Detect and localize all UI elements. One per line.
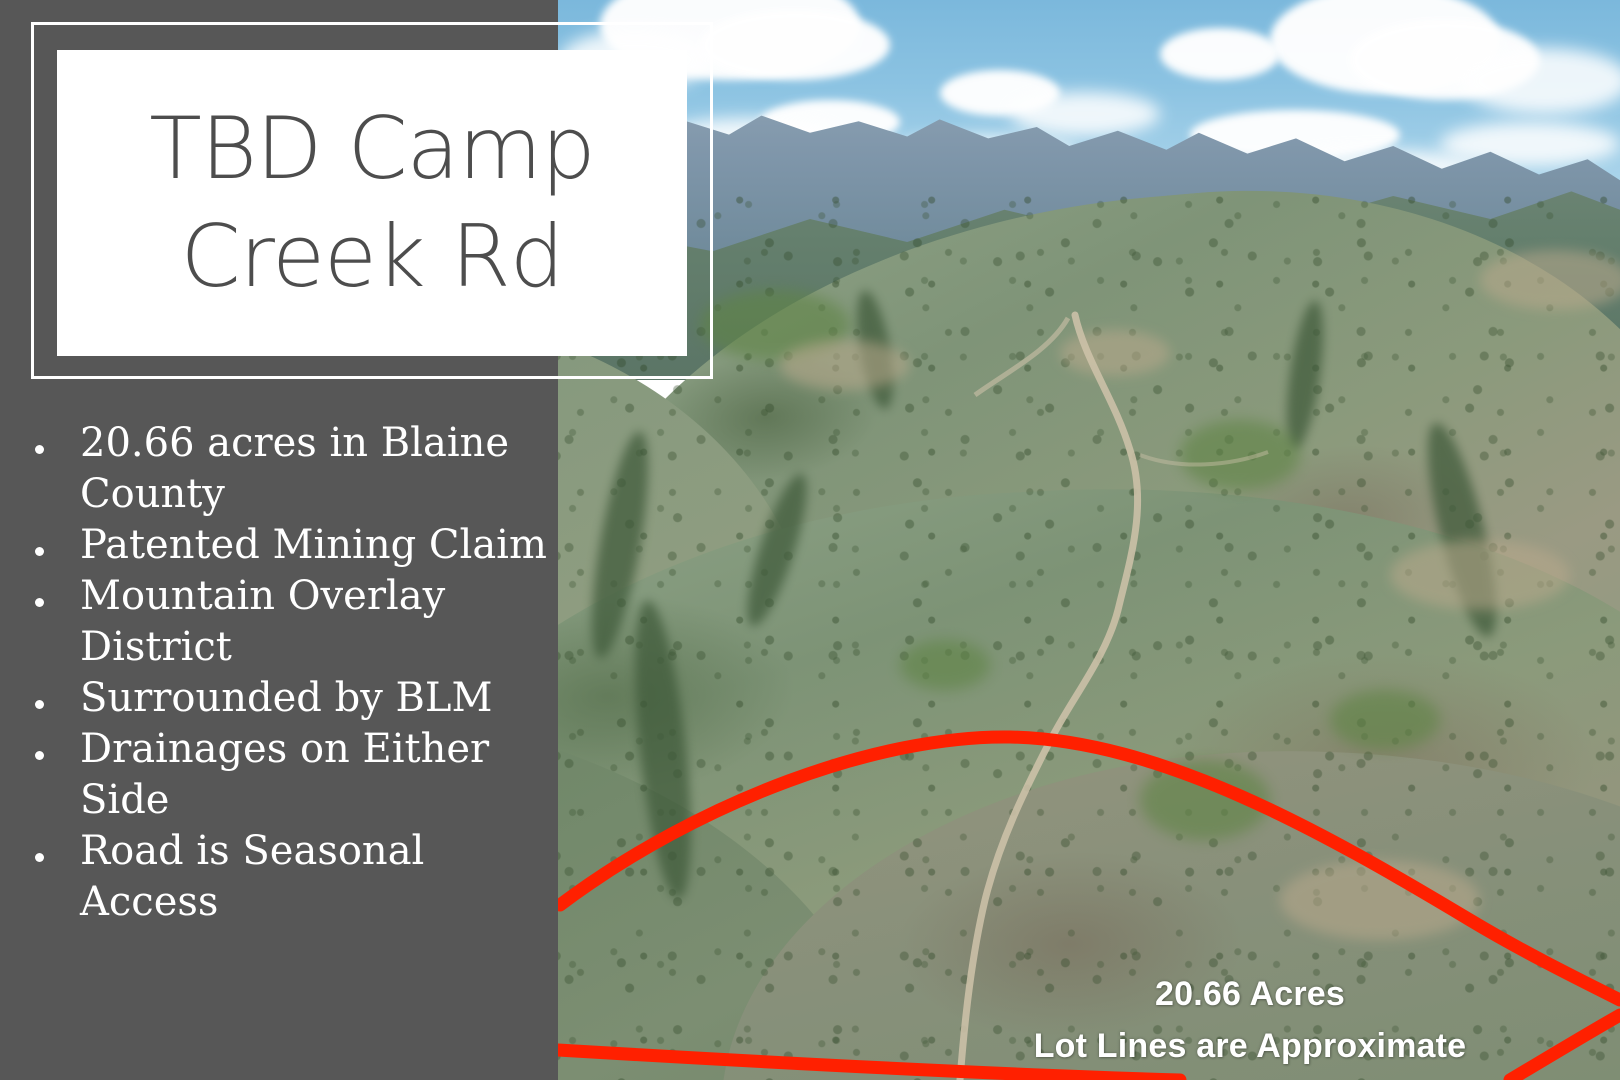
title-box: TBD Camp Creek Rd xyxy=(57,50,687,356)
bare-dirt-patch xyxy=(1060,330,1170,376)
feature-list: 20.66 acres in Blaine County Patented Mi… xyxy=(0,418,558,928)
cloud-icon xyxy=(1460,48,1620,114)
photo-caption: 20.66 Acres Lot Lines are Approximate xyxy=(900,968,1600,1072)
cloud-icon xyxy=(1160,28,1280,80)
vegetation-patch xyxy=(1180,420,1300,490)
list-item: Patented Mining Claim xyxy=(0,520,558,571)
listing-flyer: 20.66 Acres Lot Lines are Approximate TB… xyxy=(0,0,1620,1080)
list-item: Surrounded by BLM xyxy=(0,673,558,724)
list-item: Mountain Overlay District xyxy=(0,571,558,673)
bare-dirt-patch xyxy=(780,340,910,390)
bare-dirt-patch xyxy=(1390,540,1570,610)
vegetation-patch xyxy=(1140,760,1270,840)
bare-dirt-patch xyxy=(1280,860,1480,940)
acreage-label: 20.66 Acres xyxy=(900,968,1600,1020)
vegetation-patch xyxy=(900,640,990,690)
disclaimer-label: Lot Lines are Approximate xyxy=(900,1020,1600,1072)
list-item: Drainages on Either Side xyxy=(0,724,558,826)
bare-dirt-patch xyxy=(1480,250,1620,310)
page-title-line-1: TBD Camp xyxy=(149,95,595,203)
cloud-icon xyxy=(700,10,890,80)
list-item: 20.66 acres in Blaine County xyxy=(0,418,558,520)
page-title: TBD Camp Creek Rd xyxy=(123,95,621,311)
list-item: Road is Seasonal Access xyxy=(0,826,558,928)
page-title-line-2: Creek Rd xyxy=(149,203,595,311)
vegetation-patch xyxy=(1330,690,1440,750)
